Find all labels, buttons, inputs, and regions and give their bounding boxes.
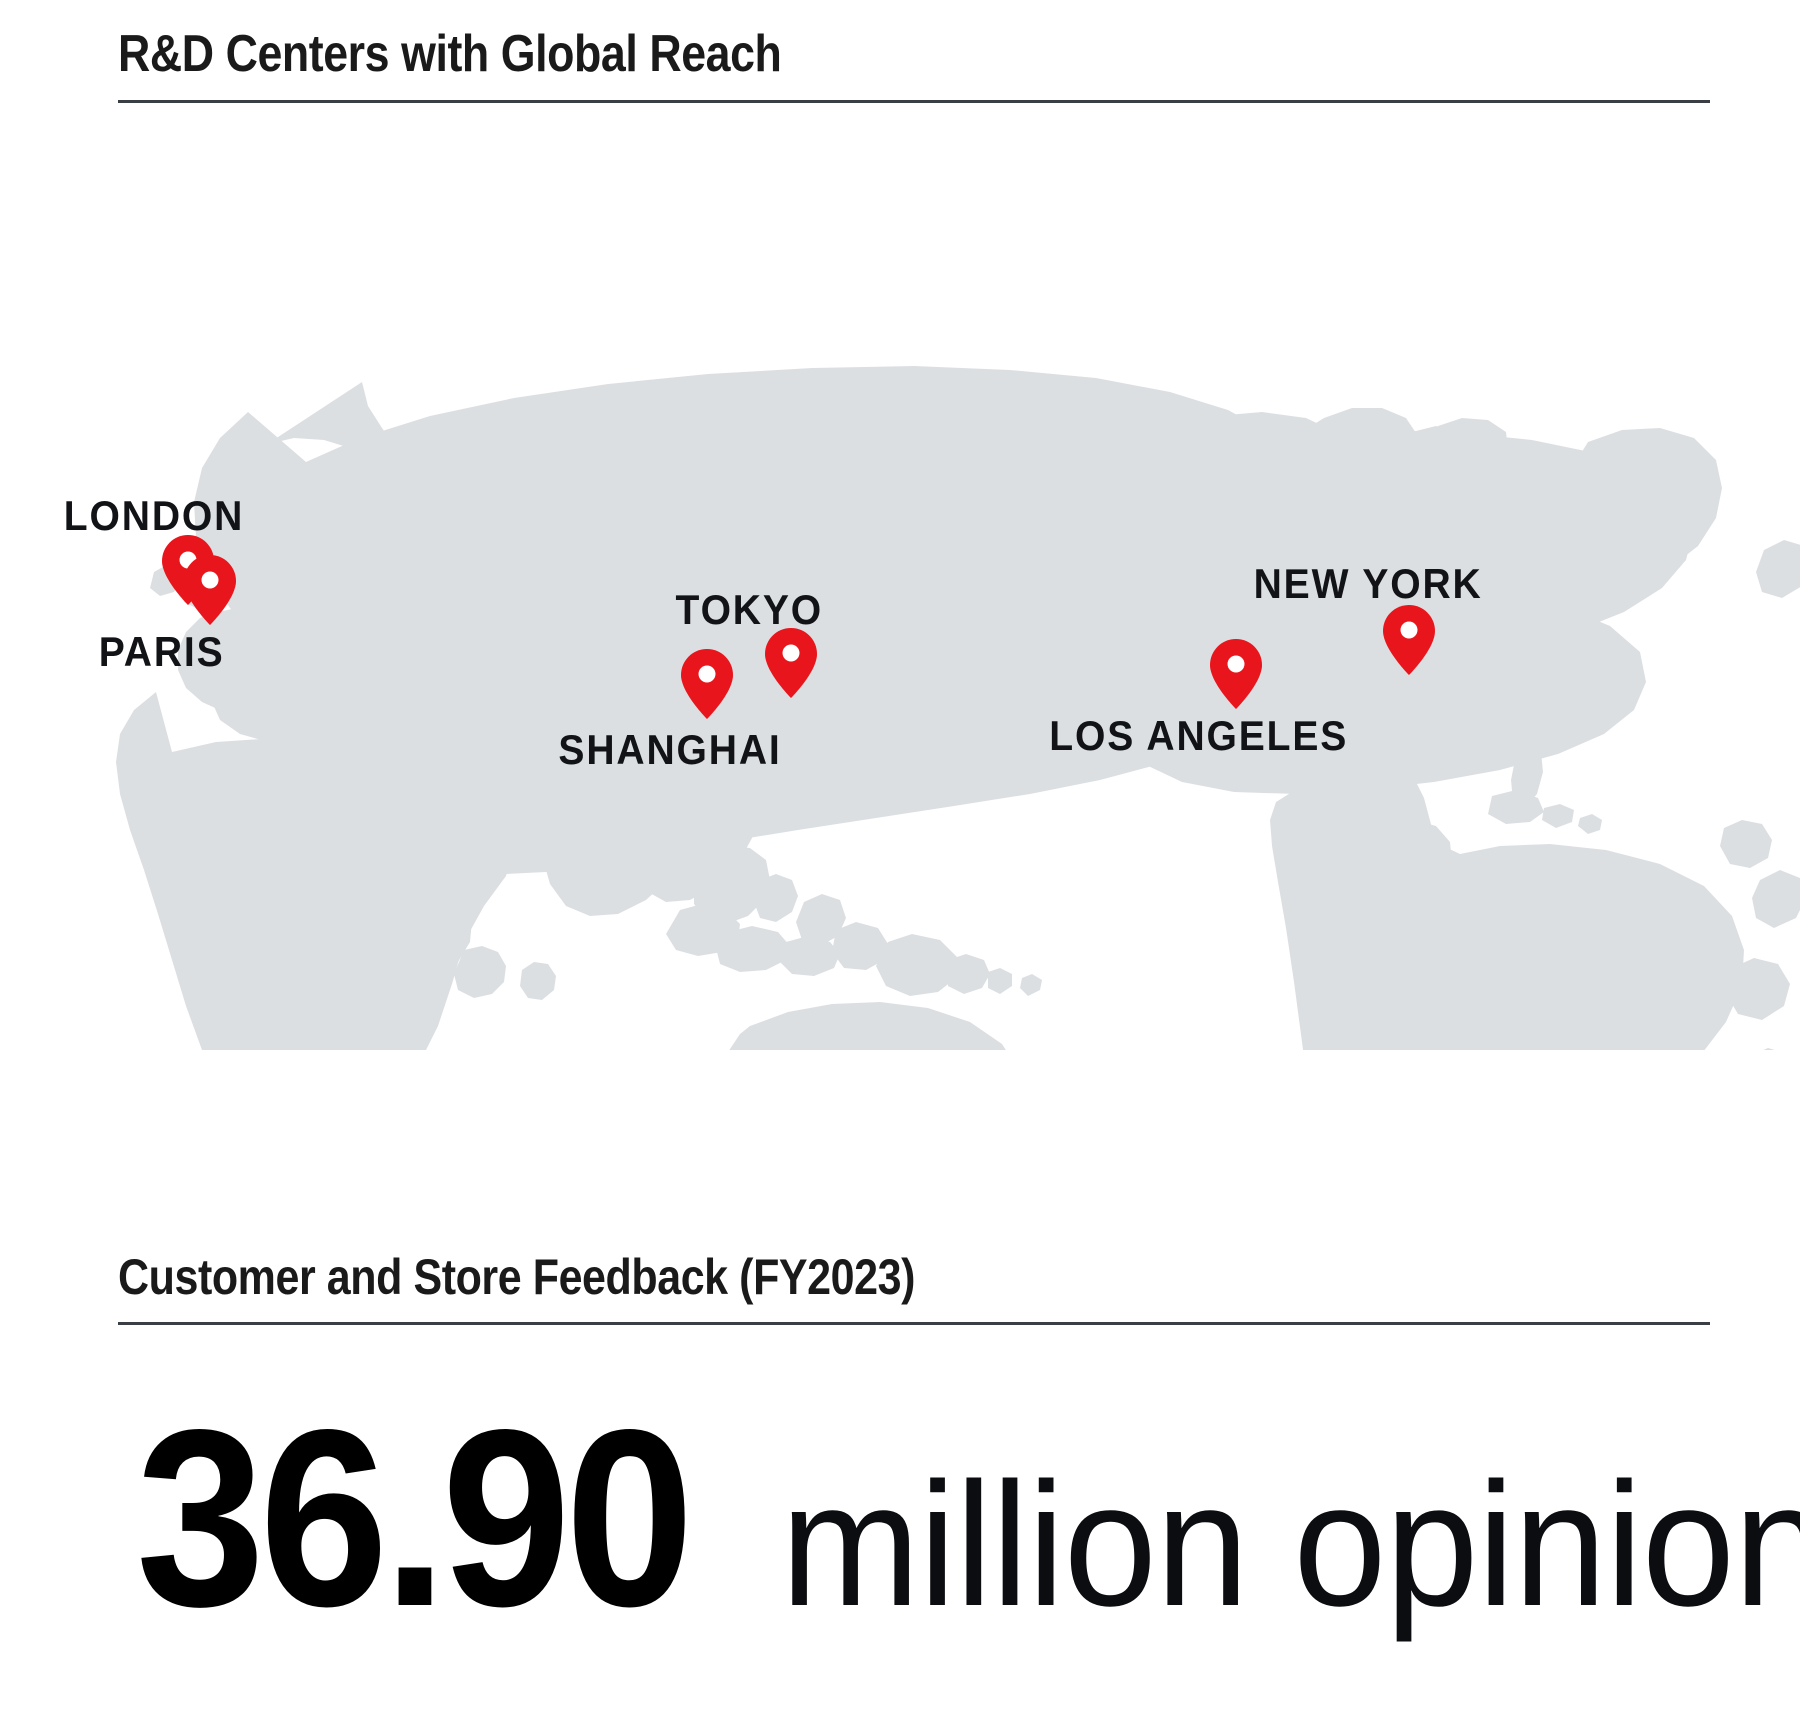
world-map-landmasses xyxy=(60,190,1800,1050)
map-pin-shanghai[interactable] xyxy=(679,647,735,721)
map-pin-tokyo[interactable] xyxy=(763,626,819,700)
map-label-london: LONDON xyxy=(64,494,244,538)
header-divider xyxy=(118,100,1710,103)
map-label-tokyo: TOKYO xyxy=(676,588,823,632)
map-label-new-york: NEW YORK xyxy=(1254,562,1483,606)
rd-section-header: R&D Centers with Global Reach xyxy=(118,22,1713,103)
world-map: LONDON PARIS SHANGHAI TOKYO LOS ANGELES … xyxy=(60,190,1800,1050)
stat-unit-label: million opinions xyxy=(780,1455,1800,1635)
map-label-los-angeles: LOS ANGELES xyxy=(1049,714,1348,758)
stat-value: 36.90 xyxy=(136,1404,689,1634)
feedback-stat: 36.90 million opinions xyxy=(112,1404,1762,1634)
feedback-divider xyxy=(118,1322,1710,1325)
map-label-paris: PARIS xyxy=(99,630,225,674)
map-label-shanghai: SHANGHAI xyxy=(558,728,781,772)
feedback-title: Customer and Store Feedback (FY2023) xyxy=(118,1246,1490,1308)
page-title: R&D Centers with Global Reach xyxy=(118,22,1490,86)
map-pin-los-angeles[interactable] xyxy=(1208,637,1264,711)
map-pin-new-york[interactable] xyxy=(1381,603,1437,677)
feedback-section-header: Customer and Store Feedback (FY2023) xyxy=(118,1246,1713,1325)
map-pin-paris[interactable] xyxy=(182,553,238,627)
